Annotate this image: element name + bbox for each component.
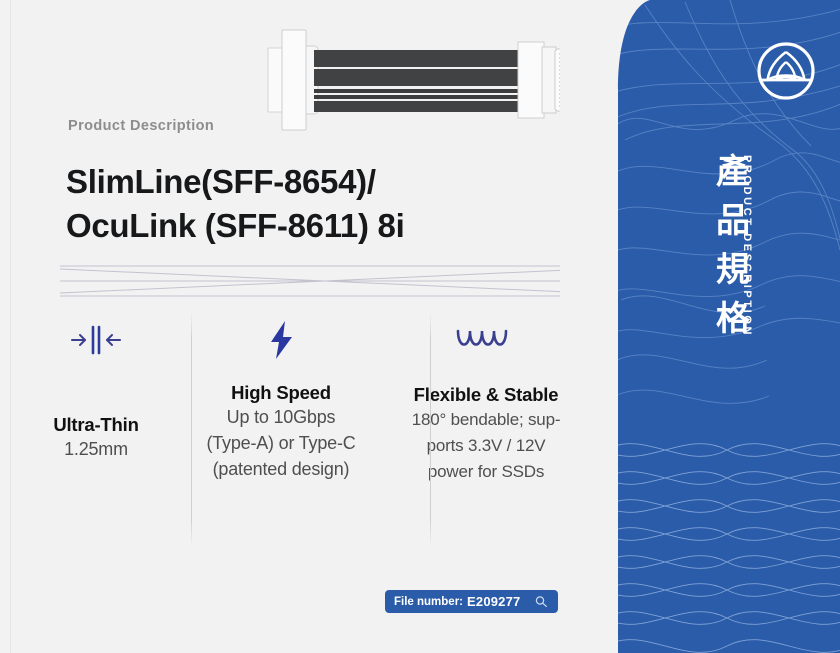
magnifier-icon[interactable] [534, 594, 549, 609]
feature-divider [430, 312, 431, 547]
chinese-char: 規 [706, 246, 762, 295]
product-description-slide: Product Description SlimLine(SFF-8654)/ … [0, 0, 840, 653]
decorative-crossing-lines [60, 258, 590, 306]
feature-item-high-speed: High Speed Up to 10Gbps (Type-A) or Type… [176, 312, 386, 482]
feature-title: Flexible & Stable [394, 384, 578, 406]
chinese-char: 品 [706, 197, 762, 246]
feature-desc-line: (patented design) [184, 457, 378, 482]
feature-desc-line: 180° bendable; sup- [394, 407, 578, 432]
file-number-label: File number: [394, 596, 463, 608]
feature-divider [191, 312, 192, 547]
chinese-char: 產 [706, 148, 762, 197]
file-number-value: E209277 [467, 594, 520, 609]
lightning-bolt-icon [184, 312, 378, 368]
side-panel-english-title: PRODUCT DESCRIPTION [741, 155, 753, 337]
feature-item-flexible-stable: Flexible & Stable 180° bendable; sup- po… [386, 312, 586, 484]
feature-desc-line: Up to 10Gbps [184, 405, 378, 430]
kicker-label: Product Description [68, 118, 214, 134]
product-image-cable [250, 20, 610, 140]
sine-wave-icon [394, 312, 578, 368]
thickness-caliper-icon [24, 312, 168, 368]
feature-desc-line: (Type-A) or Type-C [184, 431, 378, 456]
side-panel-chinese-title: 產 品 規 格 [706, 148, 762, 344]
page-title: SlimLine(SFF-8654)/ OcuLink (SFF-8611) 8… [66, 160, 586, 248]
feature-desc-line: ports 3.3V / 12V [394, 433, 578, 458]
feature-list: Ultra-Thin 1.25mm High Speed Up to 10Gbp… [16, 312, 616, 552]
feature-desc-line: power for SSDs [394, 459, 578, 484]
company-logo-icon [755, 40, 817, 102]
left-edge-rule [10, 0, 11, 653]
feature-desc-line: 1.25mm [24, 437, 168, 462]
page-title-line1: SlimLine(SFF-8654)/ [66, 163, 376, 200]
feature-title: Ultra-Thin [24, 414, 168, 436]
feature-title: High Speed [184, 382, 378, 404]
page-title-line2: OcuLink (SFF-8611) 8i [66, 204, 586, 248]
file-number-badge[interactable]: File number: E209277 [385, 590, 558, 613]
feature-item-ultra-thin: Ultra-Thin 1.25mm [16, 312, 176, 462]
chinese-char: 格 [706, 295, 762, 344]
